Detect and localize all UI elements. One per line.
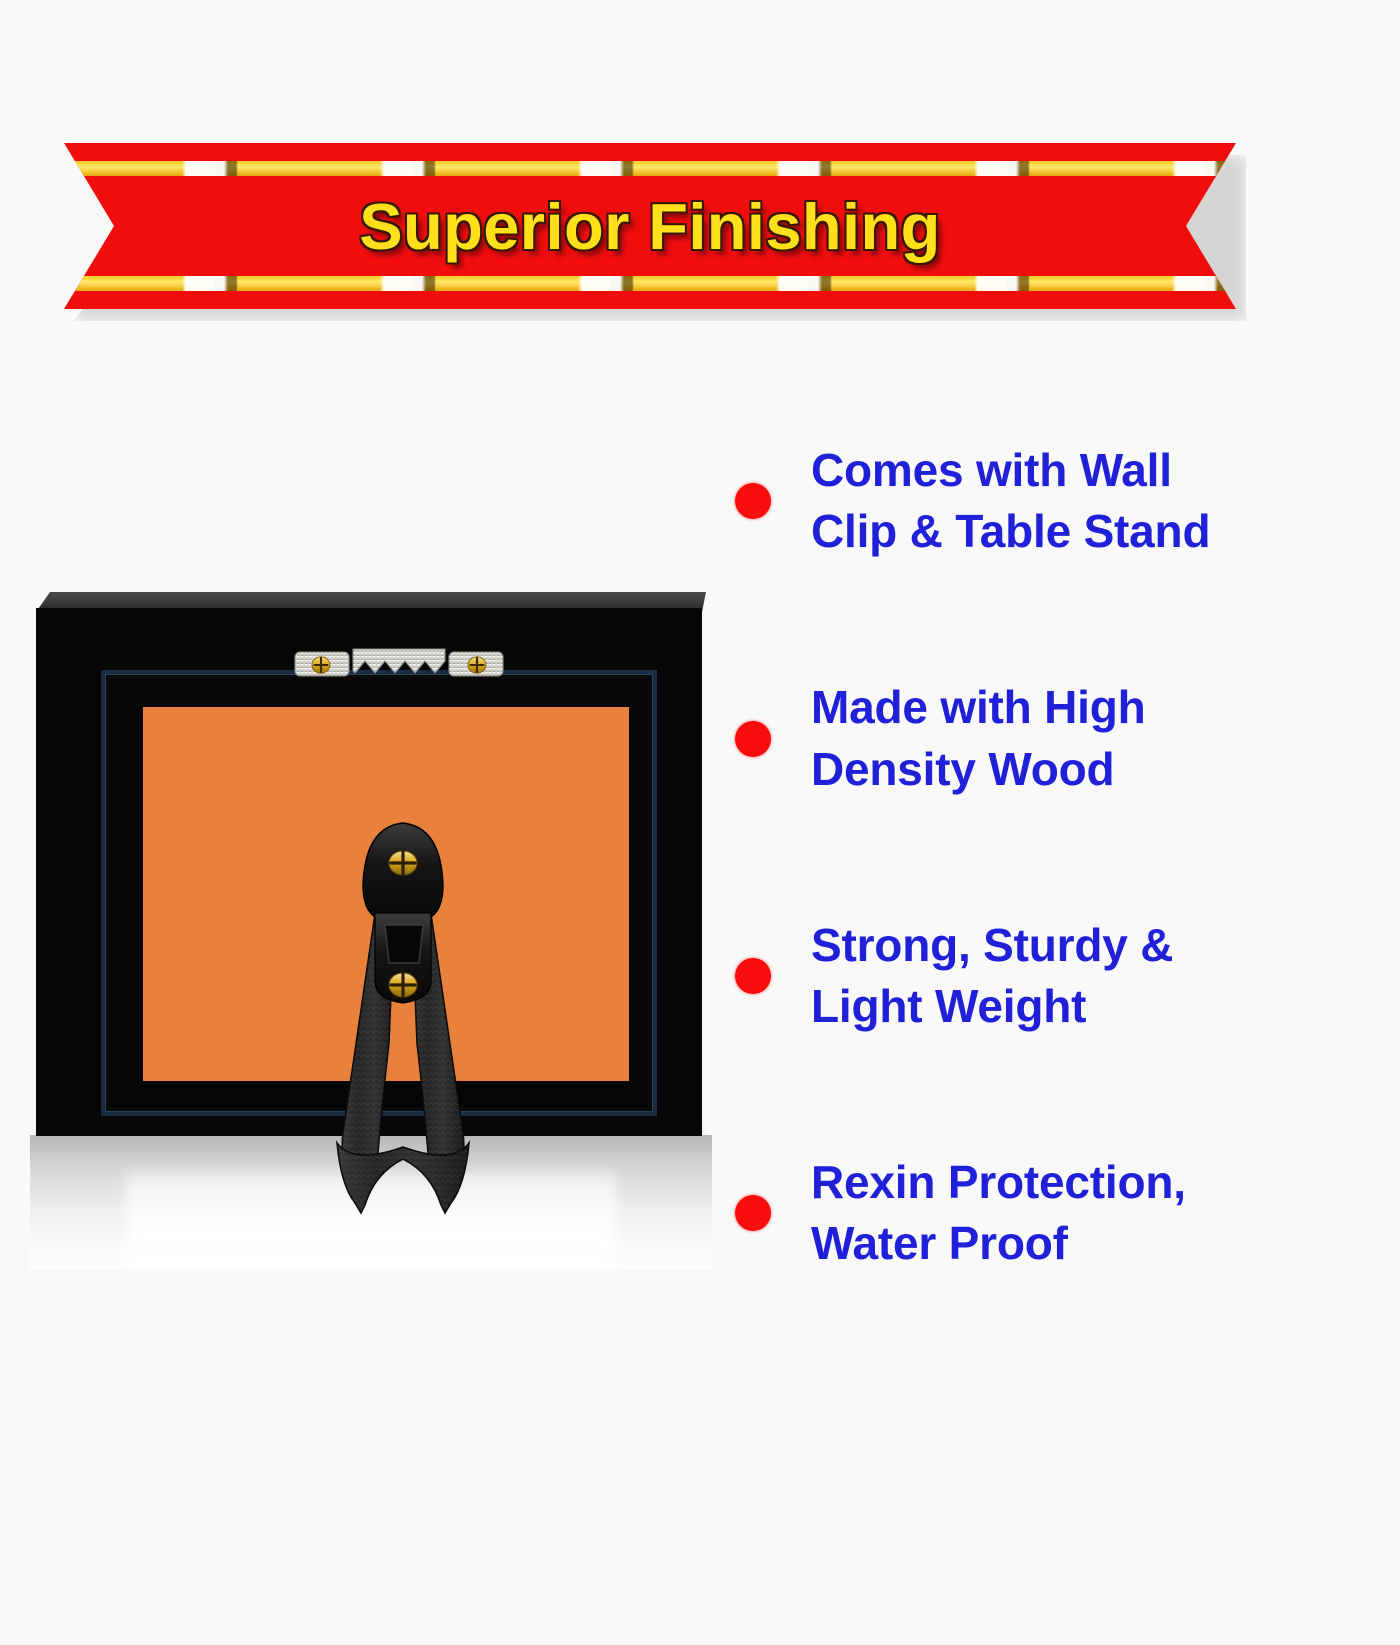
easel-slot [385,925,423,963]
feature-line-1: Made with High [811,681,1146,733]
feature-line-2: Light Weight [811,980,1086,1032]
banner-title: Superior Finishing [64,143,1236,309]
screw-right [468,657,486,673]
feature-label: Strong, Sturdy & Light Weight [811,915,1173,1037]
feature-list: Comes with Wall Clip & Table Stand Made … [735,440,1355,1274]
feature-line-1: Rexin Protection, [811,1156,1186,1208]
feature-label: Comes with Wall Clip & Table Stand [811,440,1210,562]
screw-left [312,657,330,673]
easel-screw-top [389,851,417,875]
feature-label: Rexin Protection, Water Proof [811,1152,1186,1274]
bullet-dot-icon [735,1195,771,1231]
bullet-dot-icon [735,483,771,519]
feature-item: Rexin Protection, Water Proof [735,1152,1355,1274]
feature-item: Comes with Wall Clip & Table Stand [735,440,1355,562]
bullet-dot-icon [735,721,771,757]
feature-line-2: Clip & Table Stand [811,505,1210,557]
table-easel-stand-icon [303,813,503,1238]
banner-ribbon: Superior Finishing [64,143,1244,328]
sawtooth-wall-clip-icon [293,644,505,678]
feature-item: Strong, Sturdy & Light Weight [735,915,1355,1037]
bullet-dot-icon [735,958,771,994]
feature-line-2: Density Wood [811,743,1114,795]
product-image [26,588,716,1268]
easel-screw-bottom [389,973,417,997]
feature-line-1: Strong, Sturdy & [811,919,1173,971]
feature-label: Made with High Density Wood [811,677,1146,799]
feature-line-2: Water Proof [811,1217,1068,1269]
feature-line-1: Comes with Wall [811,444,1172,496]
feature-item: Made with High Density Wood [735,677,1355,799]
